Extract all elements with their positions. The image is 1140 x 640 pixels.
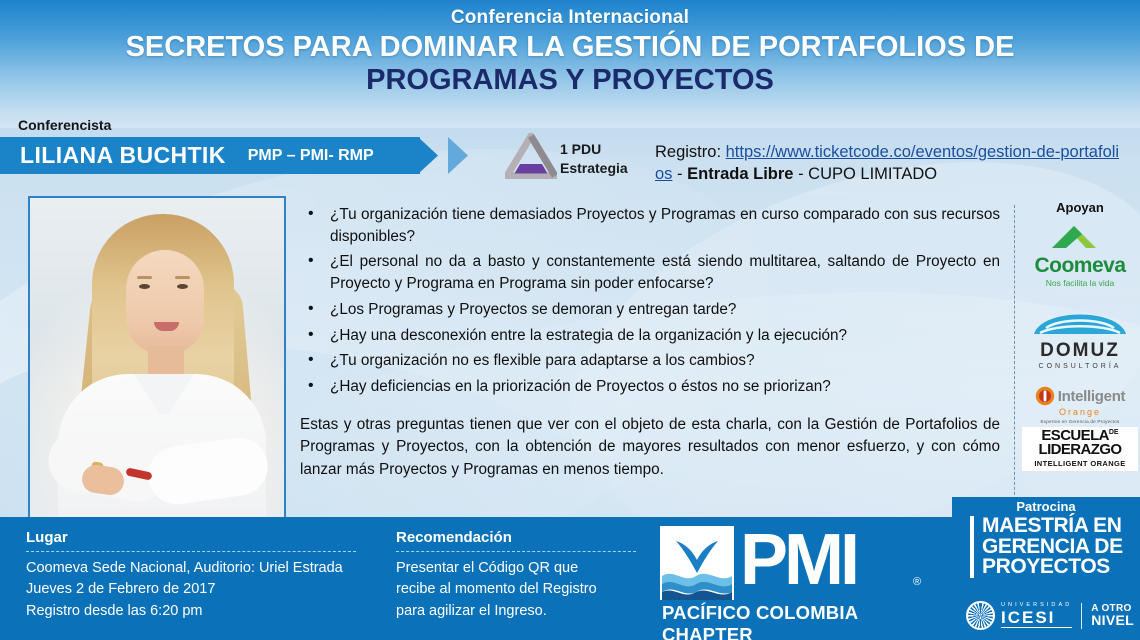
registration-info: Registro: https://www.ticketcode.co/even…	[655, 141, 1125, 186]
intelligent-tagline: Expertos en Gerencia de Proyectos	[1022, 419, 1138, 424]
maestria-line-3: PROYECTOS	[982, 557, 1140, 578]
divider	[1081, 603, 1082, 629]
pdu-text: 1 PDU Estrategia	[560, 140, 628, 178]
title-line-2: PROGRAMAS Y PROYECTOS	[70, 64, 1070, 97]
lugar-block: Lugar Coomeva Sede Nacional, Auditorio: …	[26, 529, 356, 622]
lugar-heading: Lugar	[26, 529, 356, 546]
maestria-line-1: MAESTRÍA EN	[982, 516, 1140, 537]
lugar-line: Jueves 2 de Febrero de 2017	[26, 579, 356, 600]
chevron-right-icon	[448, 137, 482, 174]
escuela-sublabel: INTELLIGENT ORANGE	[1023, 459, 1137, 468]
maestria-title: MAESTRÍA EN GERENCIA DE PROYECTOS	[970, 516, 1140, 578]
coomeva-name: Coomeva	[1022, 255, 1138, 276]
title-line-1: SECRETOS PARA DOMINAR LA GESTIÓN DE PORT…	[126, 31, 1015, 63]
registro-suffix: - CUPO LIMITADO	[798, 165, 937, 183]
domuz-name: DOMUZ	[1022, 341, 1138, 360]
orange-circle-icon	[1035, 386, 1055, 406]
lugar-line: Registro desde las 6:20 pm	[26, 601, 356, 622]
question-list: ¿Tu organización tiene demasiados Proyec…	[300, 204, 1000, 398]
icesi-logo-row: UNIVERSIDAD ICESI A OTRO NIVEL	[966, 601, 1134, 630]
patrocina-heading: Patrocina	[952, 499, 1140, 514]
recomendacion-line: recibe al momento del Registro	[396, 579, 636, 600]
intelligent-name: Intelligent	[1058, 388, 1126, 405]
maestria-line-2: GERENCIA DE	[982, 537, 1140, 558]
pdu-amount: 1 PDU	[560, 140, 628, 159]
registro-prefix: Registro:	[655, 143, 721, 161]
orange-word: Orange	[1022, 407, 1138, 417]
icesi-name: ICESI	[1001, 609, 1072, 628]
domuz-tagline: CONSULTORÍA	[1022, 363, 1138, 370]
pmi-whale-tail-icon	[660, 526, 734, 600]
speaker-label: Conferencista	[18, 117, 111, 133]
coomeva-tagline: Nos facilita la vida	[1022, 278, 1138, 288]
escuela-sup: DE	[1109, 429, 1119, 436]
pmi-letters: PMI	[740, 524, 856, 596]
main-content: ¿Tu organización tiene demasiados Proyec…	[300, 204, 1000, 482]
header-kicker: Conferencia Internacional	[0, 0, 1140, 29]
event-poster: Conferencia Internacional SECRETOS PARA …	[0, 0, 1140, 640]
chevron-right-icon	[418, 137, 452, 174]
sponsor-logo-intelligent-orange: Intelligent Orange Expertos en Gerencia …	[1022, 386, 1138, 471]
list-item: ¿El personal no da a basto y constanteme…	[300, 251, 1000, 294]
aotronivel-line-2: NIVEL	[1091, 614, 1134, 628]
coomeva-chevron-icon	[1022, 224, 1138, 250]
divider	[396, 551, 636, 552]
divider	[26, 551, 356, 552]
pmi-logo: PMI ® PACÍFICO COLOMBIA CHAPTER	[660, 524, 950, 634]
escuela-liderazgo-logo: ESCUELADE LIDERAZGO INTELLIGENT ORANGE	[1022, 427, 1138, 471]
aotronivel-logo: A OTRO NIVEL	[1091, 604, 1134, 628]
pmi-registered-mark: ®	[913, 576, 921, 588]
list-item: ¿Tu organización tiene demasiados Proyec…	[300, 204, 1000, 247]
page-title: SECRETOS PARA DOMINAR LA GESTIÓN DE PORT…	[70, 31, 1070, 97]
sponsor-logo-coomeva: Coomeva Nos facilita la vida	[1022, 224, 1138, 288]
icesi-wordmark: UNIVERSIDAD ICESI	[1001, 603, 1072, 628]
poster-header: Conferencia Internacional SECRETOS PARA …	[0, 0, 1140, 128]
list-item: ¿Hay una desconexión entre la estrategia…	[300, 325, 1000, 347]
icesi-seal-icon	[966, 601, 995, 630]
pdu-category: Estrategia	[560, 159, 628, 178]
description-paragraph: Estas y otras preguntas tienen que ver c…	[300, 414, 1000, 482]
recomendacion-line: Presentar el Código QR que	[396, 558, 636, 579]
speaker-name: LILIANA BUCHTIK	[20, 142, 226, 169]
list-item: ¿Hay deficiencias en la priorización de …	[300, 376, 1000, 398]
pmi-talent-triangle-icon	[505, 133, 557, 179]
lugar-line: Coomeva Sede Nacional, Auditorio: Uriel …	[26, 558, 356, 579]
speaker-bar: LILIANA BUCHTIK PMP – PMI- RMP	[0, 137, 420, 174]
domuz-arc-icon	[1030, 302, 1130, 336]
list-item: ¿Tu organización no es flexible para ada…	[300, 350, 1000, 372]
sponsors-heading: Apoyan	[1020, 200, 1140, 215]
sponsor-divider	[1014, 205, 1015, 510]
escuela-line-2: LIDERAZGO	[1023, 443, 1137, 457]
entrada-libre-badge: Entrada Libre	[687, 165, 793, 183]
sponsor-logo-domuz: DOMUZ CONSULTORÍA	[1022, 302, 1138, 370]
speaker-credentials: PMP – PMI- RMP	[248, 147, 374, 165]
speaker-photo	[30, 198, 284, 523]
patrocina-block: Patrocina MAESTRÍA EN GERENCIA DE PROYEC…	[952, 497, 1140, 640]
recomendacion-line: para agilizar el Ingreso.	[396, 601, 636, 622]
list-item: ¿Los Programas y Proyectos se demoran y …	[300, 299, 1000, 321]
pmi-chapter-name: PACÍFICO COLOMBIA CHAPTER	[662, 602, 950, 640]
recomendacion-heading: Recomendación	[396, 529, 636, 546]
speaker-photo-frame	[28, 196, 286, 525]
registro-separator: -	[677, 165, 683, 183]
recomendacion-block: Recomendación Presentar el Código QR que…	[396, 529, 636, 622]
